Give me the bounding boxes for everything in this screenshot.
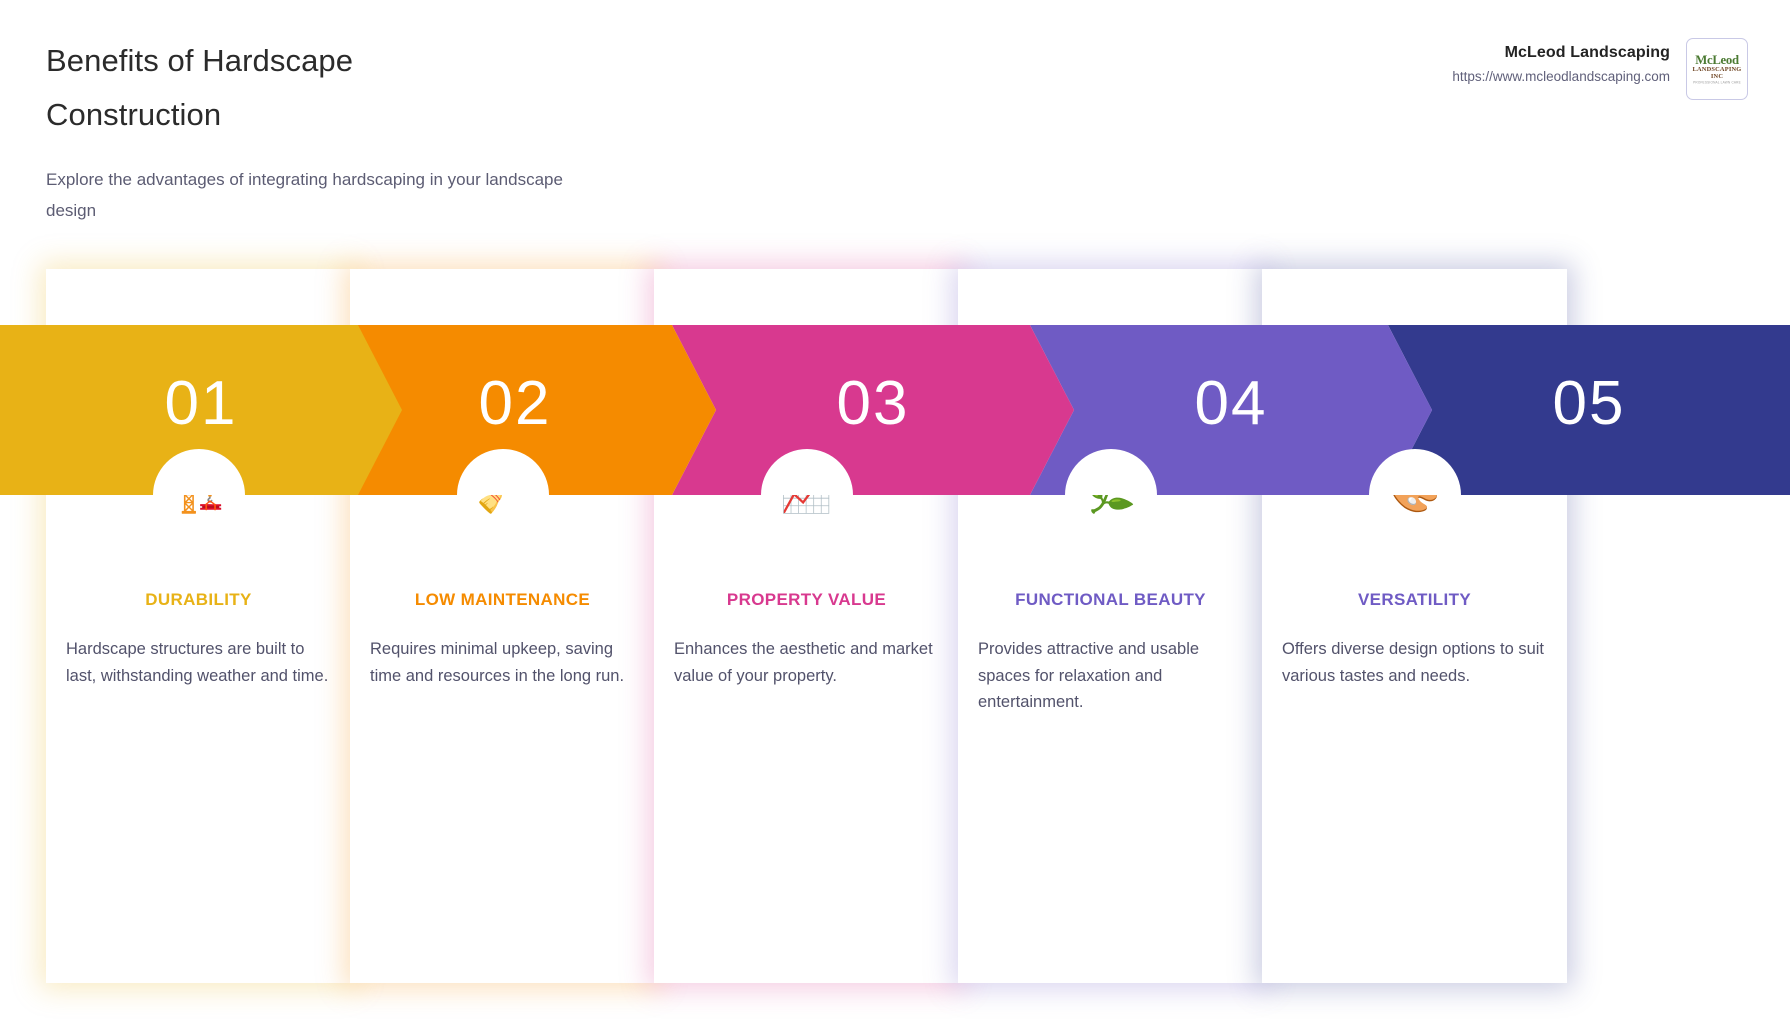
logo-line-3: PROFESSIONAL LAWN CARE xyxy=(1688,82,1747,85)
logo-line-2: LANDSCAPING INC xyxy=(1688,67,1747,80)
chevron-step[interactable]: 03 xyxy=(672,325,1074,495)
benefit-description: Requires minimal upkeep, saving time and… xyxy=(370,636,635,689)
brand-name: McLeod Landscaping xyxy=(1452,42,1670,64)
step-number: 05 xyxy=(1553,373,1626,435)
step-number: 03 xyxy=(837,373,910,435)
brand-block: McLeod Landscaping https://www.mcleodlan… xyxy=(1452,38,1748,100)
benefit-description: Hardscape structures are built to last, … xyxy=(66,636,331,689)
infographic-canvas: Benefits of Hardscape Construction Explo… xyxy=(0,0,1790,1024)
page-title: Benefits of Hardscape Construction xyxy=(46,34,446,142)
benefit-description: Offers diverse design options to suit va… xyxy=(1282,636,1547,689)
step-number: 02 xyxy=(479,373,552,435)
benefit-description: Provides attractive and usable spaces fo… xyxy=(978,636,1243,716)
header-block: Benefits of Hardscape Construction Explo… xyxy=(46,34,806,226)
chevron-step-band: 0102030405 xyxy=(0,325,1790,495)
benefit-description: Enhances the aesthetic and market value … xyxy=(674,636,939,689)
benefit-title: LOW MAINTENANCE xyxy=(366,589,639,611)
logo-mark-icon: McLeod LANDSCAPING INC PROFESSIONAL LAWN… xyxy=(1688,53,1747,85)
step-number: 01 xyxy=(165,373,238,435)
benefit-title: PROPERTY VALUE xyxy=(670,589,943,611)
step-number: 04 xyxy=(1195,373,1268,435)
benefit-title: DURABILITY xyxy=(62,589,335,611)
brand-logo: McLeod LANDSCAPING INC PROFESSIONAL LAWN… xyxy=(1686,38,1748,100)
benefit-title: FUNCTIONAL BEAUTY xyxy=(974,589,1247,611)
page-subtitle: Explore the advantages of integrating ha… xyxy=(46,164,586,226)
brand-url[interactable]: https://www.mcleodlandscaping.com xyxy=(1452,66,1670,88)
logo-line-1: McLeod xyxy=(1688,53,1747,66)
brand-text: McLeod Landscaping https://www.mcleodlan… xyxy=(1452,38,1670,88)
benefit-title: VERSATILITY xyxy=(1278,589,1551,611)
